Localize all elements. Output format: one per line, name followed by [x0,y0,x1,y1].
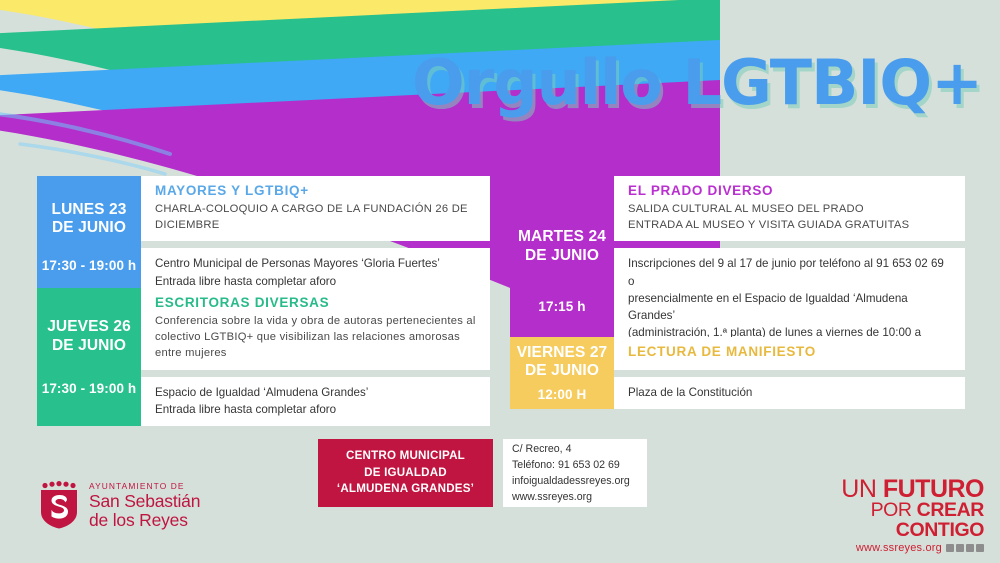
slogan-block: UN FUTURO POR CREAR CONTIGO www.ssreyes.… [794,477,984,554]
event-heading-lunes: MAYORES Y LGTBIQ+ [155,183,478,198]
date-line-1: LUNES 23 [52,201,127,219]
event-detail-line-2: Entrada libre hasta completar aforo [155,401,478,418]
date-line-1: VIERNES 27 [517,344,608,362]
slogan-line-2: POR CREAR CONTIGO [794,501,984,541]
card-block-headline-lunes: MAYORES Y LGTBIQ+ CHARLA-COLOQUIO A CARG… [141,176,490,241]
event-subtitle-lunes: CHARLA-COLOQUIO A CARGO DE LA FUNDACIÓN … [155,201,478,233]
social-icon-4[interactable] [976,544,984,552]
card-block-detail-jueves: Espacio de Igualdad ‘Almudena Grandes’ E… [141,377,490,426]
event-card-viernes: VIERNES 27 DE JUNIO 12:00 H LECTURA DE M… [510,337,965,409]
date-line-2: DE JUNIO [47,337,131,355]
event-detail-line-1: Inscripciones del 9 al 17 de junio por t… [628,255,953,289]
page-title: Orgullo LGTBIQ+ [412,46,982,119]
date-label-viernes: VIERNES 27 DE JUNIO [517,344,608,381]
card-body-viernes: LECTURA DE MANIFIESTO Plaza de la Consti… [614,337,965,409]
contact-info-box: C/ Recreo, 4 Teléfono: 91 653 02 69 info… [503,439,647,507]
event-card-jueves: JUEVES 26 DE JUNIO 17:30 - 19:00 h ESCRI… [37,288,490,426]
ayuntamiento-name-line-2: de los Reyes [89,511,200,530]
card-gap [614,241,965,248]
poster-root: Orgullo LGTBIQ+ LUNES 23 DE JUNIO 17:30 … [0,0,1000,563]
card-gap [141,370,490,377]
coat-of-arms-shield-icon [38,481,80,529]
card-gap [614,370,965,377]
time-label-martes: 17:15 h [538,299,585,314]
social-icon-2[interactable] [956,544,964,552]
contact-website[interactable]: www.ssreyes.org [512,489,638,505]
date-panel-lunes: LUNES 23 DE JUNIO 17:30 - 19:00 h [37,176,141,298]
centro-line-2: DE IGUALDAD [364,465,447,481]
date-label-martes: MARTES 24 DE JUNIO [518,228,606,265]
card-block-headline-viernes: LECTURA DE MANIFIESTO [614,337,965,370]
contact-phone: Teléfono: 91 653 02 69 [512,457,638,473]
date-line-2: DE JUNIO [518,247,606,265]
ayuntamiento-text: AYUNTAMIENTO DE San Sebastián de los Rey… [89,481,200,529]
date-line-2: DE JUNIO [517,362,608,380]
event-heading-martes: EL PRADO DIVERSO [628,183,953,198]
slogan-line2-thin: POR [871,499,912,521]
event-detail-line-2: presencialmente en el Espacio de Igualda… [628,290,953,324]
slogan-line-1: UN FUTURO [794,477,984,501]
card-body-jueves: ESCRITORAS DIVERSAS Conferencia sobre la… [141,288,490,426]
social-icons-group [946,544,984,552]
slogan-url-row: www.ssreyes.org [794,542,984,554]
date-label-lunes: LUNES 23 DE JUNIO [52,201,127,238]
event-detail-line-1: Centro Municipal de Personas Mayores ‘Gl… [155,255,478,272]
time-label-lunes: 17:30 - 19:00 h [42,258,137,273]
event-heading-jueves: ESCRITORAS DIVERSAS [155,295,478,310]
card-gap [141,241,490,248]
event-subtitle-jueves: Conferencia sobre la vida y obra de auto… [155,313,478,362]
card-block-detail-viernes: Plaza de la Constitución [614,377,965,409]
card-block-headline-jueves: ESCRITORAS DIVERSAS Conferencia sobre la… [141,288,490,370]
card-block-headline-martes: EL PRADO DIVERSO SALIDA CULTURAL AL MUSE… [614,176,965,241]
slogan-website-url[interactable]: www.ssreyes.org [856,542,942,554]
date-panel-jueves: JUEVES 26 DE JUNIO 17:30 - 19:00 h [37,288,141,426]
card-body-lunes: MAYORES Y LGTBIQ+ CHARLA-COLOQUIO A CARG… [141,176,490,298]
date-line-1: JUEVES 26 [47,318,131,336]
centro-municipal-box: CENTRO MUNICIPAL DE IGUALDAD ‘ALMUDENA G… [318,439,493,507]
ayuntamiento-name-line-1: San Sebastián [89,492,200,511]
social-icon-3[interactable] [966,544,974,552]
social-icon-1[interactable] [946,544,954,552]
event-subtitle-line-1: SALIDA CULTURAL AL MUSEO DEL PRADO [628,201,953,217]
event-detail-line-1: Espacio de Igualdad ‘Almudena Grandes’ [155,384,478,401]
event-heading-viernes: LECTURA DE MANIFIESTO [628,344,953,359]
event-subtitle-line-2: ENTRADA AL MUSEO Y VISITA GUIADA GRATUIT… [628,217,953,233]
centro-line-1: CENTRO MUNICIPAL [346,448,465,464]
ayuntamiento-eyebrow: AYUNTAMIENTO DE [89,481,200,491]
event-card-lunes: LUNES 23 DE JUNIO 17:30 - 19:00 h MAYORE… [37,176,490,298]
date-label-jueves: JUEVES 26 DE JUNIO [47,318,131,355]
time-label-viernes: 12:00 H [538,387,587,402]
date-panel-viernes: VIERNES 27 DE JUNIO 12:00 H [510,337,614,409]
centro-line-3: ‘ALMUDENA GRANDES’ [337,481,474,497]
time-label-jueves: 17:30 - 19:00 h [42,381,137,396]
date-line-2: DE JUNIO [52,219,127,237]
date-line-1: MARTES 24 [518,228,606,246]
ayuntamiento-logo: AYUNTAMIENTO DE San Sebastián de los Rey… [38,481,200,529]
event-detail-line-1: Plaza de la Constitución [628,384,953,401]
contact-address: C/ Recreo, 4 [512,441,638,457]
contact-email[interactable]: infoigualdadessreyes.org [512,473,638,489]
